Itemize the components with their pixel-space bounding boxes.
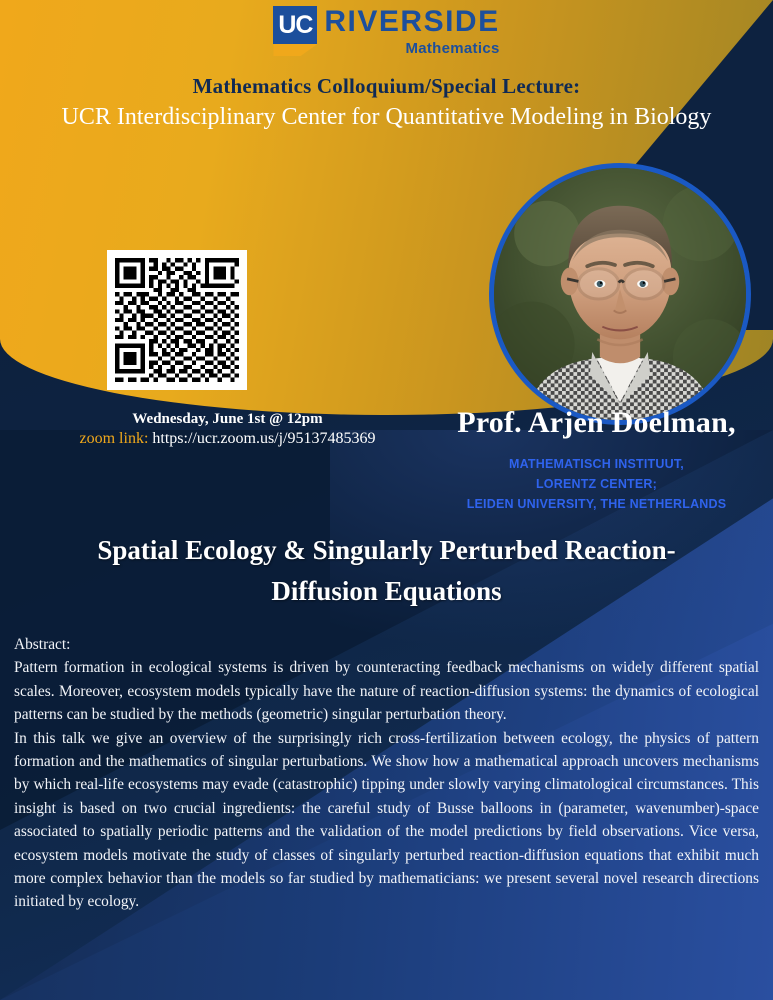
speaker-portrait [489,163,751,425]
speaker-affiliation: MATHEMATISCH INSTITUUT, LORENTZ CENTER; … [420,455,773,514]
affiliation-line-3: LEIDEN UNIVERSITY, THE NETHERLANDS [420,495,773,515]
uc-mark-icon: UC [273,6,317,54]
zoom-link-line[interactable]: zoom link: https://ucr.zoom.us/j/9513748… [0,430,455,448]
heading-block: Mathematics Colloquium/Special Lecture: … [0,74,773,132]
qr-code[interactable] [107,250,247,390]
logo-wordmark: RIVERSIDE [324,7,499,37]
center-title: UCR Interdisciplinary Center for Quantit… [0,103,773,133]
abstract-paragraph-1: Pattern formation in ecological systems … [14,656,759,726]
abstract-section: Abstract: Pattern formation in ecologica… [14,633,759,914]
lecture-title: Spatial Ecology & Singularly Perturbed R… [0,530,773,611]
ucr-logo: UC RIVERSIDE Mathematics [0,6,773,68]
speaker-name: Prof. Arjen Doelman, [420,406,773,440]
zoom-link-label: zoom link: [80,430,149,447]
uc-flag-icon [273,44,317,56]
abstract-paragraph-2: In this talk we give an overview of the … [14,727,759,914]
series-title: Mathematics Colloquium/Special Lecture: [0,74,773,100]
affiliation-line-2: LORENTZ CENTER; [420,475,773,495]
logo-department: Mathematics [324,40,499,57]
affiliation-line-1: MATHEMATISCH INSTITUUT, [420,455,773,475]
uc-mark-label: UC [278,13,312,38]
event-datetime: Wednesday, June 1st @ 12pm [0,411,455,428]
lecture-poster: UC RIVERSIDE Mathematics Mathematics Col… [0,0,773,1000]
abstract-label: Abstract: [14,633,759,656]
qr-code-canvas [115,258,239,382]
zoom-link-url[interactable]: https://ucr.zoom.us/j/95137485369 [152,430,375,447]
